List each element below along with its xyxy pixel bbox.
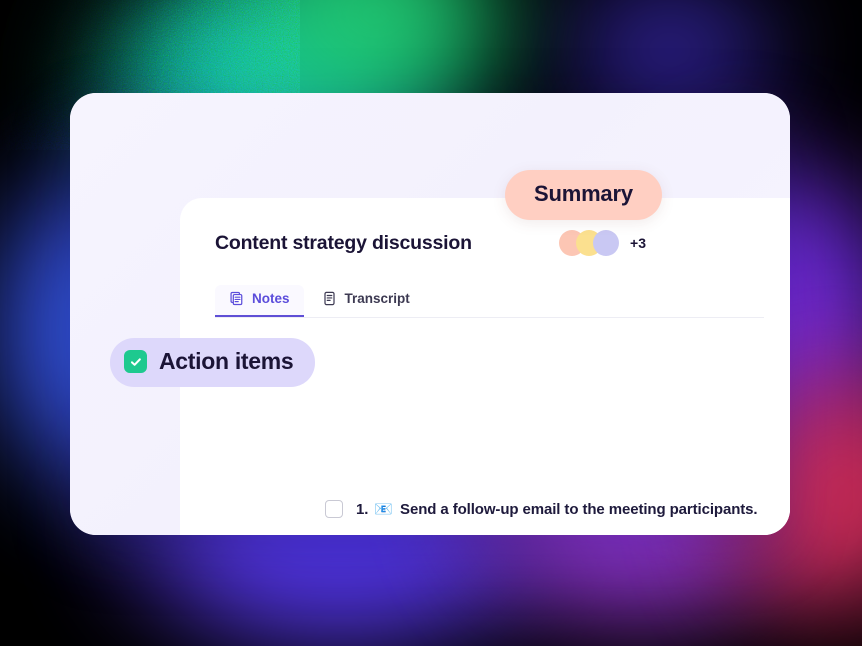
tab-notes[interactable]: Notes [215, 285, 304, 317]
transcript-icon [322, 291, 337, 306]
participants-group[interactable]: +3 [559, 230, 646, 256]
tab-bar: Notes Transcript [215, 282, 764, 318]
task-text: Send a follow-up email to the meeting pa… [400, 501, 757, 518]
avatar[interactable] [593, 230, 619, 256]
notes-icon [229, 291, 244, 306]
list-item[interactable]: 2. 😱 Check out the many features availab… [325, 527, 780, 535]
checkmark-icon [124, 350, 147, 373]
action-items-list: 1. 📧 Send a follow-up email to the meeti… [325, 491, 780, 535]
task-number: 1. [356, 501, 368, 518]
action-items-heading: Action items [110, 338, 315, 387]
email-icon: 📧 [374, 500, 393, 518]
notes-header: Content strategy discussion +3 [215, 218, 764, 268]
screenshot-stage: Content strategy discussion +3 [0, 0, 862, 646]
tab-transcript[interactable]: Transcript [308, 285, 424, 317]
participants-overflow-count: +3 [630, 235, 646, 251]
task-label: 1. 📧 Send a follow-up email to the meeti… [356, 500, 758, 518]
page-title: Content strategy discussion [215, 232, 472, 255]
task-checkbox[interactable] [325, 500, 343, 518]
summary-badge[interactable]: Summary [505, 170, 662, 220]
action-items-label: Action items [159, 348, 293, 375]
list-item[interactable]: 1. 📧 Send a follow-up email to the meeti… [325, 491, 780, 527]
meeting-notes-card: Content strategy discussion +3 [70, 93, 790, 535]
avatar-stack[interactable] [559, 230, 621, 256]
tab-transcript-label: Transcript [345, 291, 410, 306]
tab-notes-label: Notes [252, 291, 290, 306]
